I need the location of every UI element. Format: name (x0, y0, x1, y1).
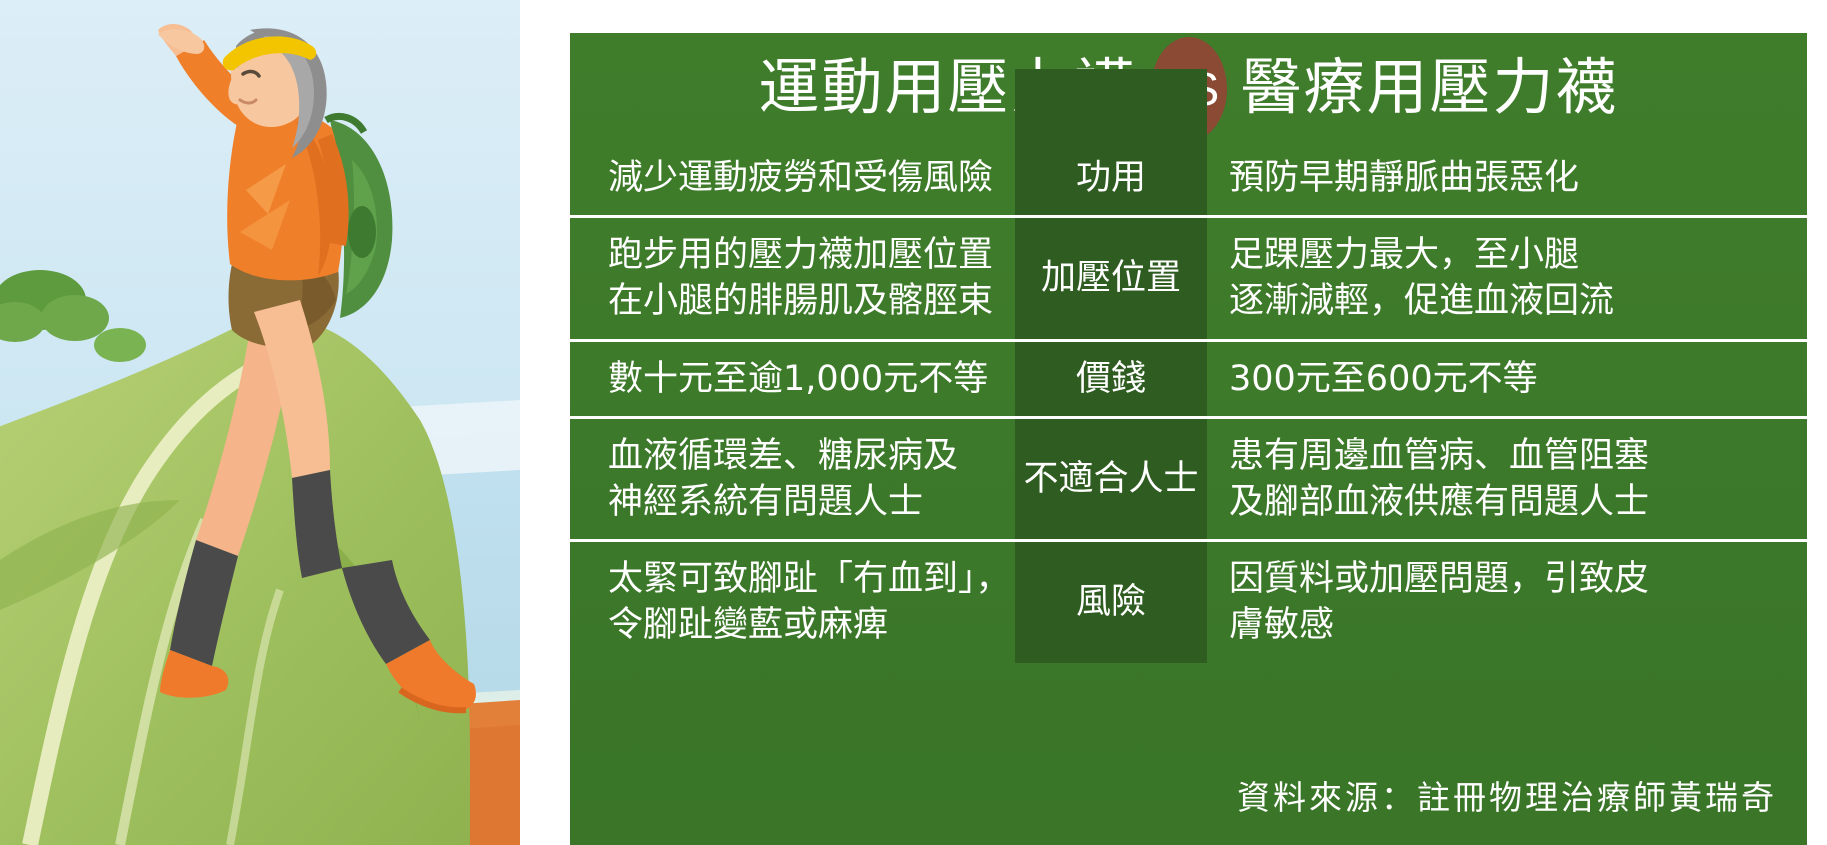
row-label-cell: 不適合人士 (1015, 416, 1207, 539)
row-right-line: 膚敏感 (1229, 602, 1649, 648)
row-label: 風險 (1076, 579, 1146, 625)
row-left-line: 血液循環差、糖尿病及 (608, 433, 958, 479)
comparison-table: 減少運動疲勞和受傷風險 功用 預防早期靜脈曲張惡化 (570, 141, 1807, 663)
source-credit: 資料來源：註冊物理治療師黃瑞奇 (1237, 771, 1777, 819)
row-label: 加壓位置 (1041, 255, 1181, 301)
table-row: 血液循環差、糖尿病及 神經系統有問題人士 不適合人士 患有周邊血管病、血管阻塞 … (570, 416, 1807, 539)
table-row: 數十元至逾1,000元不等 價錢 300元至600元不等 (570, 339, 1807, 416)
row-label-cell: 價錢 (1015, 339, 1207, 416)
title-right: 醫療用壓力襪 (1241, 57, 1619, 118)
row-right-line: 足踝壓力最大，至小腿 (1229, 232, 1614, 278)
comparison-panel: 運動用壓力襪 VS 醫療用壓力襪 減少運動疲勞和受傷風險 功用 (570, 33, 1807, 845)
row-label-cell: 功用 (1015, 141, 1207, 215)
row-right-line: 300元至600元不等 (1229, 356, 1538, 402)
row-left-line: 太緊可致腳趾「冇血到」， (608, 556, 1011, 602)
row-right-line: 預防早期靜脈曲張惡化 (1229, 155, 1579, 201)
row-right-cell: 患有周邊血管病、血管阻塞 及腳部血液供應有問題人士 (1207, 416, 1807, 539)
row-left-line: 令腳趾變藍或麻痺 (608, 602, 1011, 648)
row-left-line: 神經系統有問題人士 (608, 479, 958, 525)
row-label: 功用 (1076, 155, 1146, 201)
row-left-cell: 減少運動疲勞和受傷風險 (570, 141, 1015, 215)
hiker-illustration (0, 0, 575, 845)
row-label: 不適合人士 (1023, 456, 1198, 502)
row-left-line: 減少運動疲勞和受傷風險 (608, 155, 993, 201)
row-left-cell: 血液循環差、糖尿病及 神經系統有問題人士 (570, 416, 1015, 539)
table-row: 跑步用的壓力襪加壓位置 在小腿的腓腸肌及髂脛束 加壓位置 足踝壓力最大，至小腿 … (570, 215, 1807, 338)
row-label: 價錢 (1076, 356, 1146, 402)
row-right-line: 因質料或加壓問題，引致皮 (1229, 556, 1649, 602)
mid-column-strip (1015, 69, 1207, 141)
table-row: 太緊可致腳趾「冇血到」， 令腳趾變藍或麻痺 風險 因質料或加壓問題，引致皮 膚敏… (570, 539, 1807, 662)
row-right-cell: 足踝壓力最大，至小腿 逐漸減輕，促進血液回流 (1207, 215, 1807, 338)
row-left-line: 在小腿的腓腸肌及髂脛束 (608, 278, 993, 324)
row-left-line: 數十元至逾1,000元不等 (608, 356, 988, 402)
row-label-cell: 風險 (1015, 539, 1207, 662)
row-left-cell: 跑步用的壓力襪加壓位置 在小腿的腓腸肌及髂脛束 (570, 215, 1015, 338)
row-right-line: 逐漸減輕，促進血液回流 (1229, 278, 1614, 324)
row-right-cell: 預防早期靜脈曲張惡化 (1207, 141, 1807, 215)
table-row: 減少運動疲勞和受傷風險 功用 預防早期靜脈曲張惡化 (570, 141, 1807, 215)
row-right-line: 及腳部血液供應有問題人士 (1229, 479, 1649, 525)
row-left-line: 跑步用的壓力襪加壓位置 (608, 232, 993, 278)
row-left-cell: 數十元至逾1,000元不等 (570, 339, 1015, 416)
row-label-cell: 加壓位置 (1015, 215, 1207, 338)
row-right-line: 患有周邊血管病、血管阻塞 (1229, 433, 1649, 479)
infographic-canvas: 運動用壓力襪 VS 醫療用壓力襪 減少運動疲勞和受傷風險 功用 (0, 0, 1827, 845)
row-right-cell: 因質料或加壓問題，引致皮 膚敏感 (1207, 539, 1807, 662)
row-left-cell: 太緊可致腳趾「冇血到」， 令腳趾變藍或麻痺 (570, 539, 1015, 662)
row-right-cell: 300元至600元不等 (1207, 339, 1807, 416)
